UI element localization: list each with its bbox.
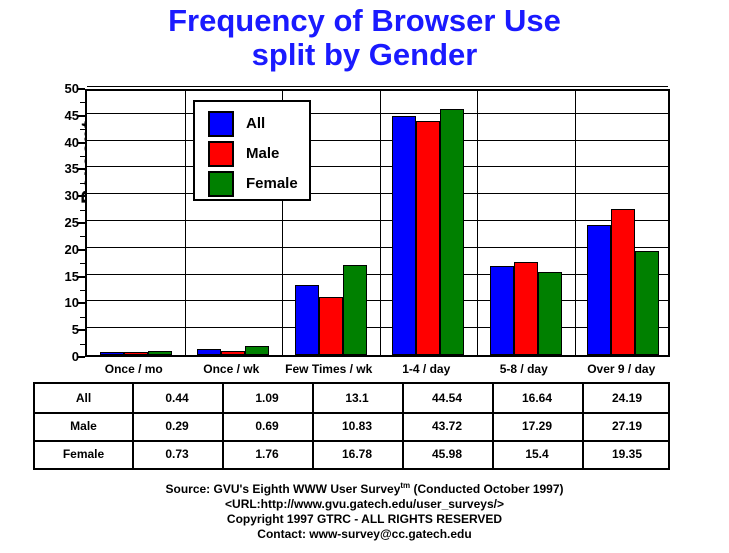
bar-all-5	[587, 225, 611, 355]
y-axis-tick-mark	[77, 115, 85, 117]
bar-female-3	[440, 109, 464, 355]
y-axis-tick-mark	[77, 356, 85, 358]
y-axis-tick-label: 35	[33, 164, 79, 174]
y-axis-tick-label: 25	[33, 218, 79, 228]
footer-source-date: (Conducted October 1997)	[410, 482, 563, 496]
bar-female-5	[635, 251, 659, 355]
legend-label-male: Male	[246, 145, 279, 162]
y-axis-tick-mark	[77, 168, 85, 170]
category-separator	[477, 91, 478, 355]
table-cell: 45.98	[402, 440, 492, 468]
y-axis-tick-mark	[77, 88, 85, 90]
category-separator	[185, 91, 186, 355]
y-axis-tick-label: 10	[33, 298, 79, 308]
y-axis-tick-label: 50	[33, 84, 79, 94]
x-axis-label-5: Over 9 / day	[573, 362, 671, 376]
y-axis-tick-label: 45	[33, 111, 79, 121]
footer-line-copyright: Copyright 1997 GTRC - ALL RIGHTS RESERVE…	[0, 512, 729, 527]
table-cell: 10.83	[312, 412, 402, 440]
y-axis-tick-label: 20	[33, 245, 79, 255]
table-cell: 0.29	[132, 412, 222, 440]
table-cell: 1.09	[222, 384, 312, 412]
table-cell: 0.44	[132, 384, 222, 412]
gridline	[87, 300, 668, 301]
bar-male-0	[124, 352, 148, 355]
y-axis-tick-label: 15	[33, 272, 79, 282]
chart-canvas: Frequency of Browser Use split by Gender…	[0, 0, 729, 553]
bar-female-0	[148, 351, 172, 355]
table-cell: 17.29	[492, 412, 582, 440]
y-axis-tick-label: 5	[33, 325, 79, 335]
gridline	[87, 140, 668, 141]
table-cell: 13.1	[312, 384, 402, 412]
trademark-superscript: tm	[400, 481, 410, 490]
bar-male-1	[221, 351, 245, 355]
legend-swatch-all	[208, 111, 234, 137]
table-row-label: Female	[35, 440, 132, 468]
table-row-label: Male	[35, 412, 132, 440]
table-cell: 19.35	[582, 440, 672, 468]
gridline	[87, 220, 668, 221]
bar-all-2	[295, 285, 319, 355]
x-axis-label-4: 5-8 / day	[475, 362, 573, 376]
bar-all-3	[392, 116, 416, 355]
x-axis-label-3: 1-4 / day	[378, 362, 476, 376]
table-cell: 0.69	[222, 412, 312, 440]
x-axis-label-1: Once / wk	[183, 362, 281, 376]
bar-male-3	[416, 121, 440, 355]
legend-label-female: Female	[246, 175, 298, 192]
bar-female-2	[343, 265, 367, 355]
footer-credits: Source: GVU's Eighth WWW User Surveytm (…	[0, 478, 729, 542]
bar-all-4	[490, 266, 514, 355]
data-table: All0.441.0913.144.5416.6424.19Male0.290.…	[33, 382, 670, 470]
table-cell: 24.19	[582, 384, 672, 412]
table-cell: 44.54	[402, 384, 492, 412]
bar-all-0	[100, 352, 124, 355]
gridline	[87, 274, 668, 275]
bar-all-1	[197, 349, 221, 355]
y-axis-tick-label: 0	[33, 352, 79, 362]
gridline	[87, 193, 668, 194]
y-axis-tick-mark	[77, 249, 85, 251]
y-axis-tick-mark	[77, 276, 85, 278]
footer-line-source: Source: GVU's Eighth WWW User Surveytm (…	[0, 478, 729, 497]
legend-swatch-female	[208, 171, 234, 197]
footer-source-text: Source: GVU's Eighth WWW User Survey	[165, 482, 400, 496]
table-cell: 43.72	[402, 412, 492, 440]
bar-male-4	[514, 262, 538, 355]
table-cell: 15.4	[492, 440, 582, 468]
plot-area	[85, 89, 670, 357]
y-axis-tick-label: 40	[33, 138, 79, 148]
table-cell: 27.19	[582, 412, 672, 440]
bar-female-1	[245, 346, 269, 355]
category-separator	[575, 91, 576, 355]
gridline	[87, 86, 668, 87]
bar-male-2	[319, 297, 343, 355]
legend: AllMaleFemale	[193, 100, 311, 201]
x-axis-label-0: Once / mo	[85, 362, 183, 376]
y-axis-tick-mark	[77, 142, 85, 144]
y-axis-tick-mark	[77, 302, 85, 304]
gridline	[87, 327, 668, 328]
chart-title-line-2: split by Gender	[0, 38, 729, 72]
gridline	[87, 247, 668, 248]
legend-label-all: All	[246, 115, 265, 132]
bar-female-4	[538, 272, 562, 355]
gridline	[87, 113, 668, 114]
table-cell: 1.76	[222, 440, 312, 468]
table-cell: 16.64	[492, 384, 582, 412]
x-axis-label-2: Few Times / wk	[280, 362, 378, 376]
bar-male-5	[611, 209, 635, 355]
table-cell: 0.73	[132, 440, 222, 468]
table-cell: 16.78	[312, 440, 402, 468]
gridline	[87, 166, 668, 167]
table-row-label: All	[35, 384, 132, 412]
y-axis-tick-mark	[77, 329, 85, 331]
y-axis-tick-label: 30	[33, 191, 79, 201]
chart-title-line-1: Frequency of Browser Use	[0, 4, 729, 38]
footer-line-url: <URL:http://www.gvu.gatech.edu/user_surv…	[0, 497, 729, 512]
category-separator	[380, 91, 381, 355]
chart-title: Frequency of Browser Use split by Gender	[0, 4, 729, 72]
y-axis-tick-mark	[77, 195, 85, 197]
legend-swatch-male	[208, 141, 234, 167]
footer-line-contact: Contact: www-survey@cc.gatech.edu	[0, 527, 729, 542]
y-axis-tick-mark	[77, 222, 85, 224]
